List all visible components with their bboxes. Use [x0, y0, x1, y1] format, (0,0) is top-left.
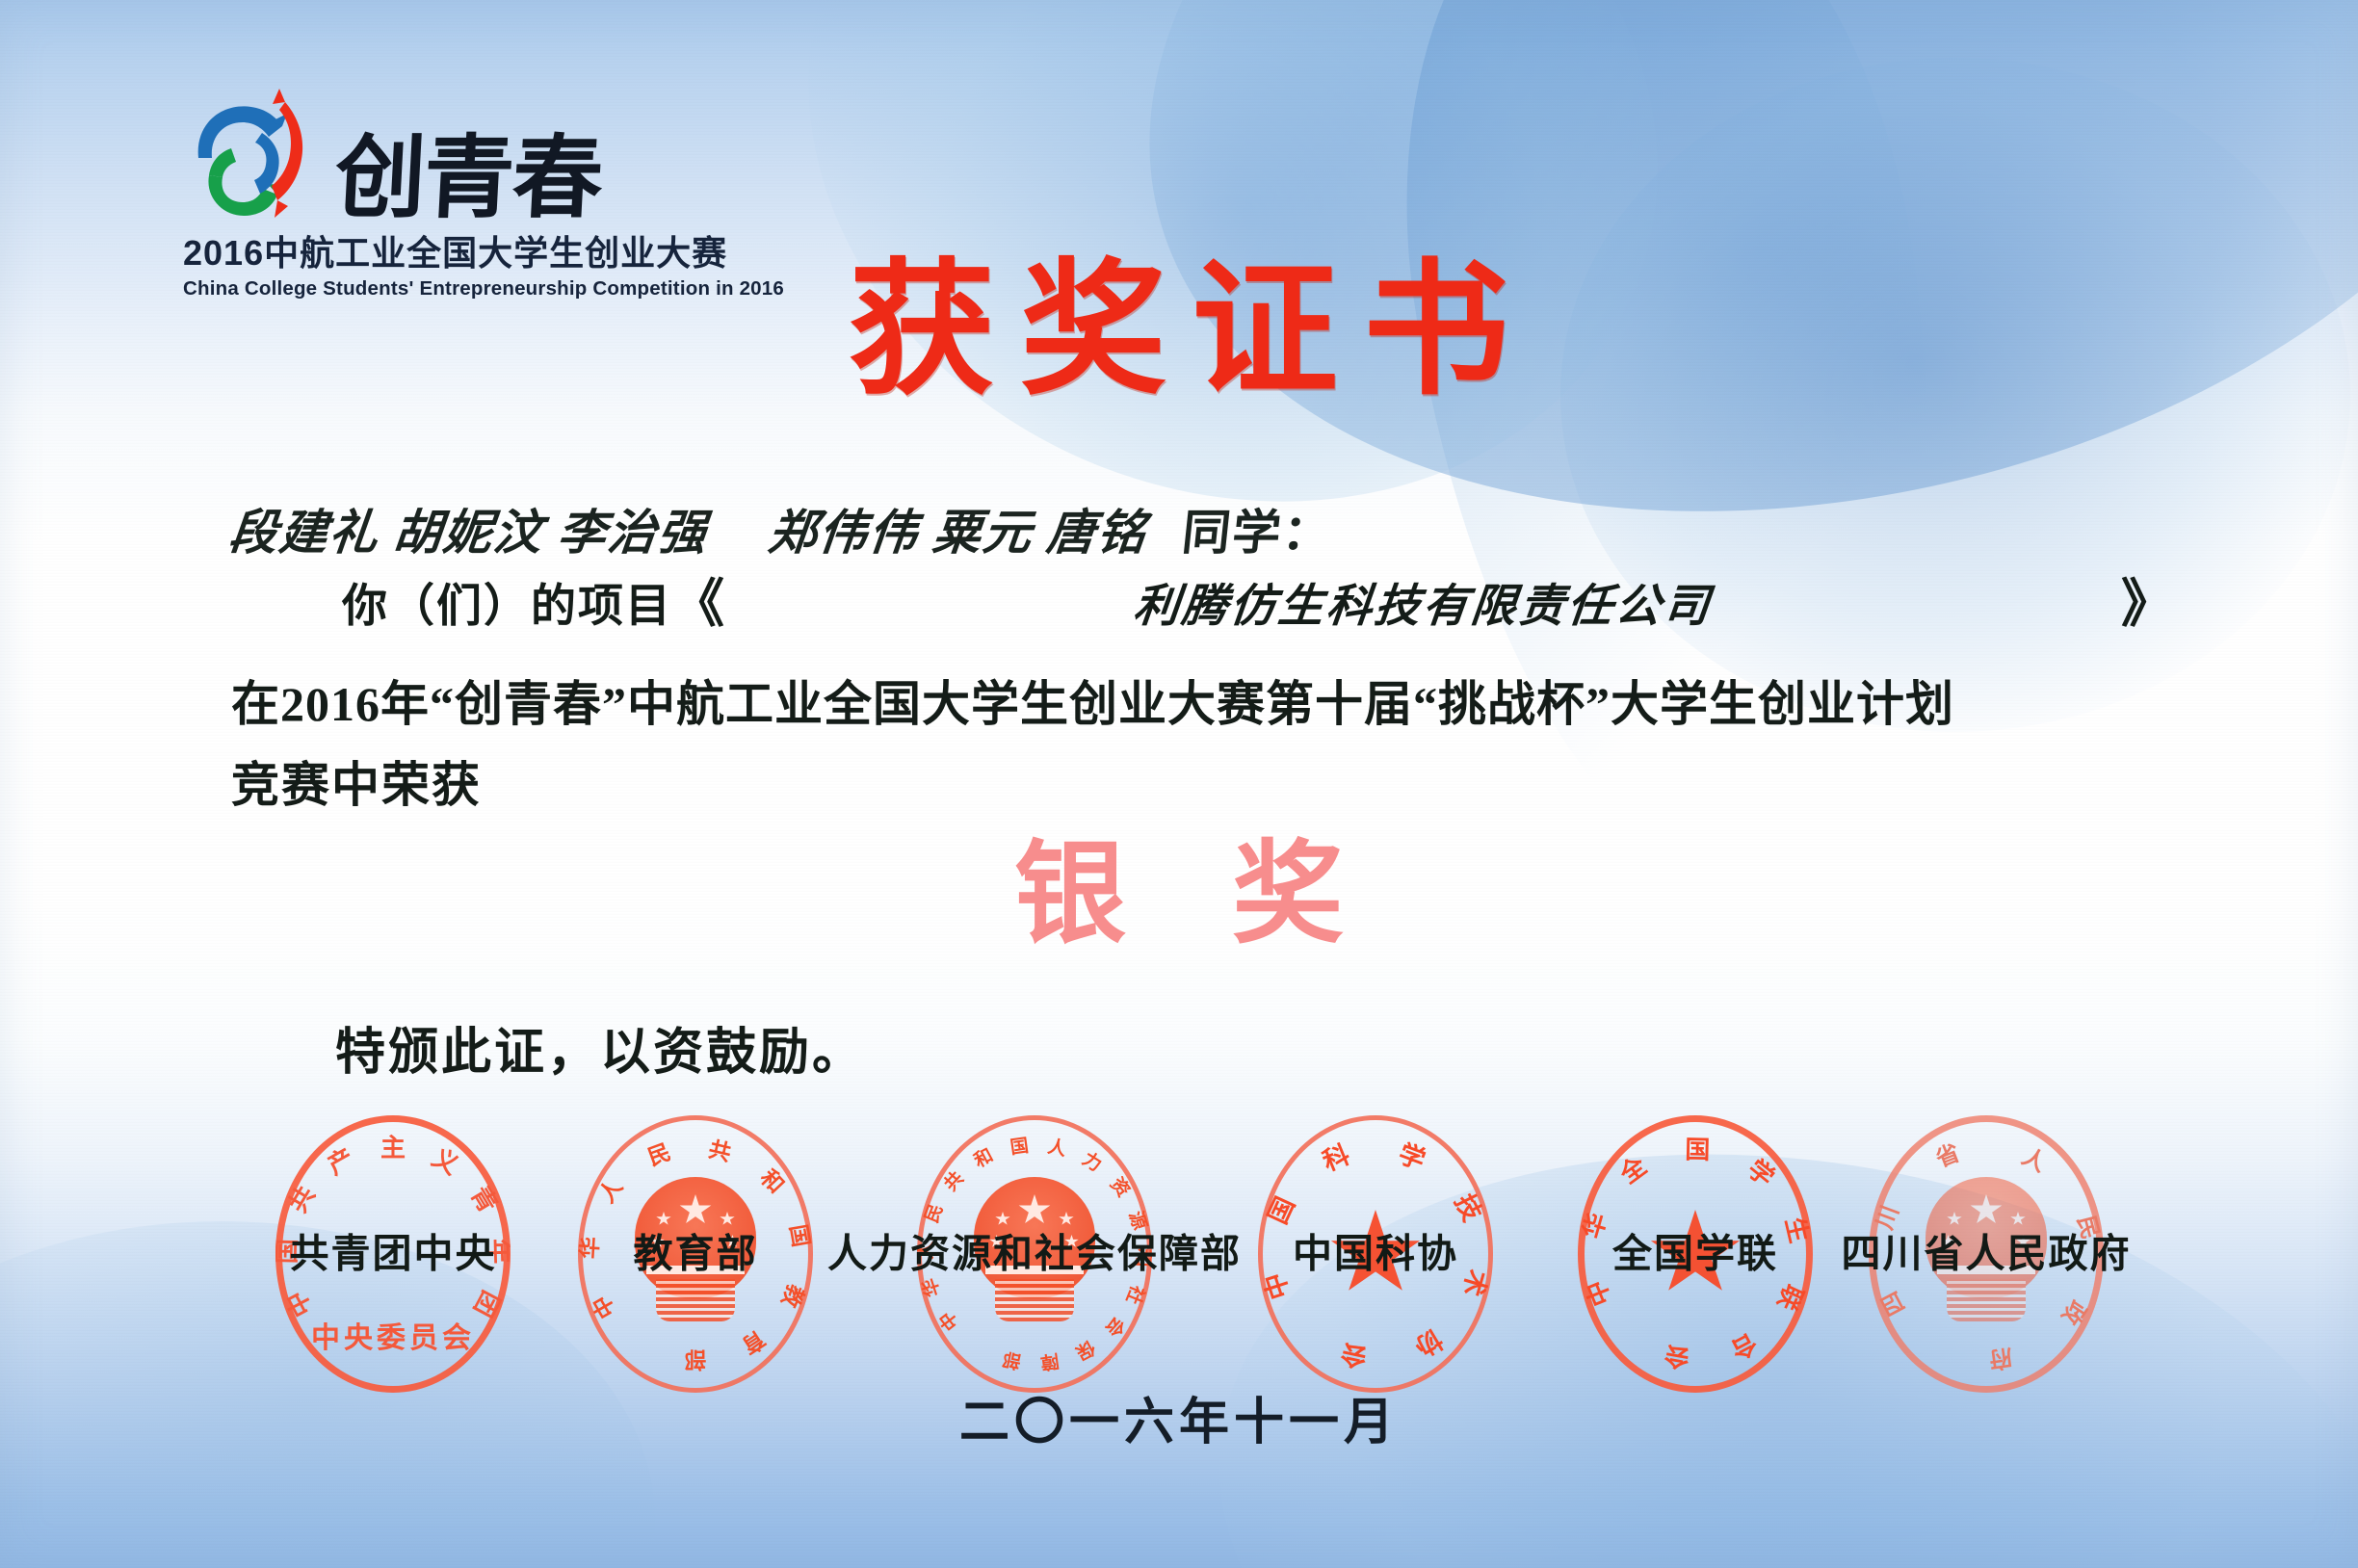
seal-label: 中国科协 — [1293, 1235, 1458, 1274]
seal-renliziyuan-shehuibaozhangbu: 中华人民共和国人力资源和社会保障部 人力资源和社会保障部 — [917, 1115, 1152, 1393]
seal-label: 四川省人民政府 — [1842, 1235, 2132, 1274]
recipient-suffix: 同学： — [1180, 506, 1336, 560]
award-level: 银奖 — [0, 840, 2358, 952]
recipient-names-primary: 段建礼 胡妮汶 李治强 — [226, 506, 711, 560]
competition-description-line-2: 竞赛中荣获 — [231, 761, 482, 809]
seal-label: 人力资源和社会保障部 — [827, 1235, 1242, 1274]
seal-row: 中国共产主义青年团中央委员会 共青团中央 中华人民共和国教育部 教育部 中华人民… — [0, 1115, 2358, 1395]
recipient-names-secondary: 郑伟伟 粟元 唐铭 — [766, 506, 1150, 560]
seal-label: 全国学联 — [1612, 1235, 1778, 1274]
recipient-names-line: 段建礼 胡妮汶 李治强 郑伟伟 粟元 唐铭 同学： — [226, 509, 1335, 557]
project-name: 利腾仿生科技有限责任公司 — [722, 585, 2124, 630]
seal-jiaoyubu: 中华人民共和国教育部 教育部 — [578, 1115, 813, 1393]
seal-label: 教育部 — [634, 1235, 758, 1274]
seal-sichuansheng-renmin-zhengfu: 四川省人民政府 四川省人民政府 — [1869, 1115, 2104, 1393]
closing-statement: 特颁此证，以资鼓励。 — [335, 1029, 865, 1079]
project-bracket-close: 》 — [2121, 578, 2173, 630]
seal-label: 共青团中央 — [290, 1235, 497, 1274]
project-lead-text: 你（们）的项目 — [342, 585, 672, 630]
issue-date: 二〇一六年十一月 — [0, 1398, 2358, 1449]
certificate-page: 创青春 2016中航工业全国大学生创业大赛 China College Stud… — [0, 0, 2358, 1568]
seal-bottom-text: 中央委员会 — [275, 1314, 511, 1356]
seal-zhongguokexie: 中国科学技术协会 中国科协 — [1258, 1115, 1493, 1393]
project-bracket-open: 《 — [672, 578, 724, 630]
project-line: 你（们）的项目 《 利腾仿生科技有限责任公司 》 — [342, 578, 2230, 630]
seal-quanguoxuelian: 中华全国学生联合会 全国学联 — [1578, 1115, 1813, 1393]
competition-description-line-1: 在2016年“创青春”中航工业全国大学生创业大赛第十届“挑战杯”大学生创业计划 — [231, 680, 2273, 728]
seal-gongqingtuan-zhongyang: 中国共产主义青年团中央委员会 共青团中央 — [275, 1115, 511, 1393]
